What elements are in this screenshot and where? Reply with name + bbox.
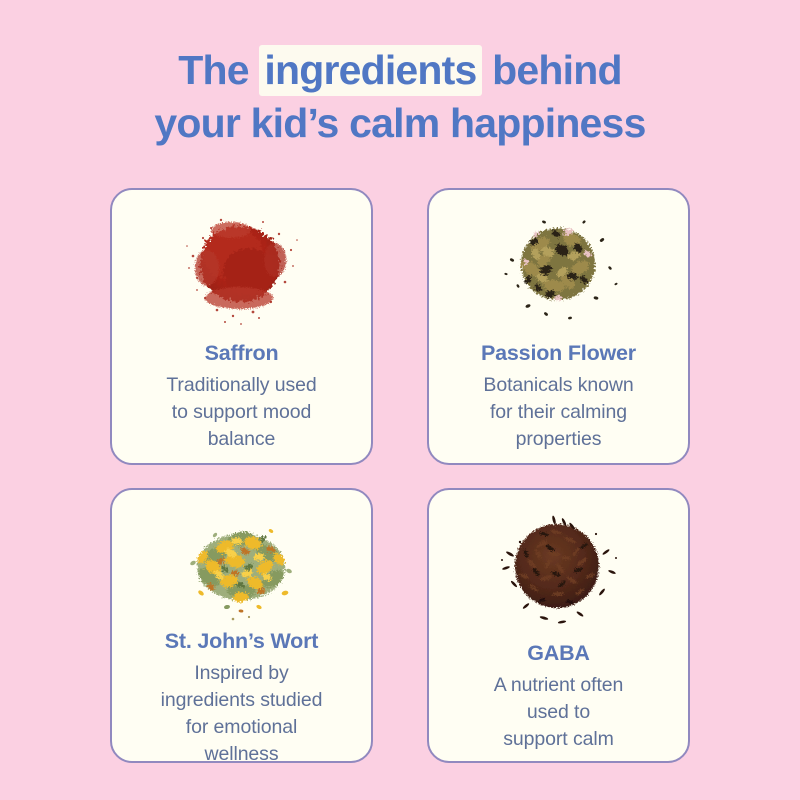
page-title-text-after: behind <box>482 47 622 93</box>
description-line: Inspired by <box>126 660 357 687</box>
ingredient-card-grid: Saffron Traditionally used to support mo… <box>110 188 690 763</box>
page-title: The ingredients behind your kid’s calm h… <box>0 44 800 150</box>
description-line: wellness <box>126 741 357 763</box>
description-line: used to <box>443 699 674 726</box>
page-title-highlight: ingredients <box>259 45 481 96</box>
ingredient-title: Saffron <box>205 340 279 366</box>
description-line: support calm <box>443 726 674 753</box>
description-line: to support mood <box>126 399 357 426</box>
description-line: Traditionally used <box>126 372 357 399</box>
page-title-text-before: The <box>178 47 259 93</box>
ingredient-card-passion-flower[interactable]: Passion Flower Botanicals known for thei… <box>427 188 690 465</box>
description-line: for emotional <box>126 714 357 741</box>
st-johns-wort-flower-image <box>167 506 317 628</box>
description-line: Botanicals known <box>443 372 674 399</box>
ingredient-title: Passion Flower <box>481 340 636 366</box>
description-line: balance <box>126 426 357 453</box>
ingredient-description: Inspired by ingredients studied for emot… <box>126 660 357 763</box>
ingredient-card-st-johns-wort[interactable]: St. John’s Wort Inspired by ingredients … <box>110 488 373 763</box>
ingredient-title: St. John’s Wort <box>165 628 318 654</box>
ingredient-title: GABA <box>527 640 590 666</box>
passion-flower-herb-image <box>484 206 634 338</box>
gaba-granules-image <box>484 506 634 638</box>
description-line: ingredients studied <box>126 687 357 714</box>
description-line: properties <box>443 426 674 453</box>
infographic-page: The ingredients behind your kid’s calm h… <box>0 0 800 800</box>
saffron-powder-image <box>167 206 317 338</box>
ingredient-description: A nutrient often used to support calm <box>443 672 674 753</box>
ingredient-card-gaba[interactable]: GABA A nutrient often used to support ca… <box>427 488 690 763</box>
ingredient-description: Botanicals known for their calming prope… <box>443 372 674 453</box>
description-line: A nutrient often <box>443 672 674 699</box>
ingredient-card-saffron[interactable]: Saffron Traditionally used to support mo… <box>110 188 373 465</box>
description-line: for their calming <box>443 399 674 426</box>
ingredient-description: Traditionally used to support mood balan… <box>126 372 357 453</box>
page-title-line-1: The ingredients behind <box>0 44 800 97</box>
page-title-line-2: your kid’s calm happiness <box>0 97 800 150</box>
